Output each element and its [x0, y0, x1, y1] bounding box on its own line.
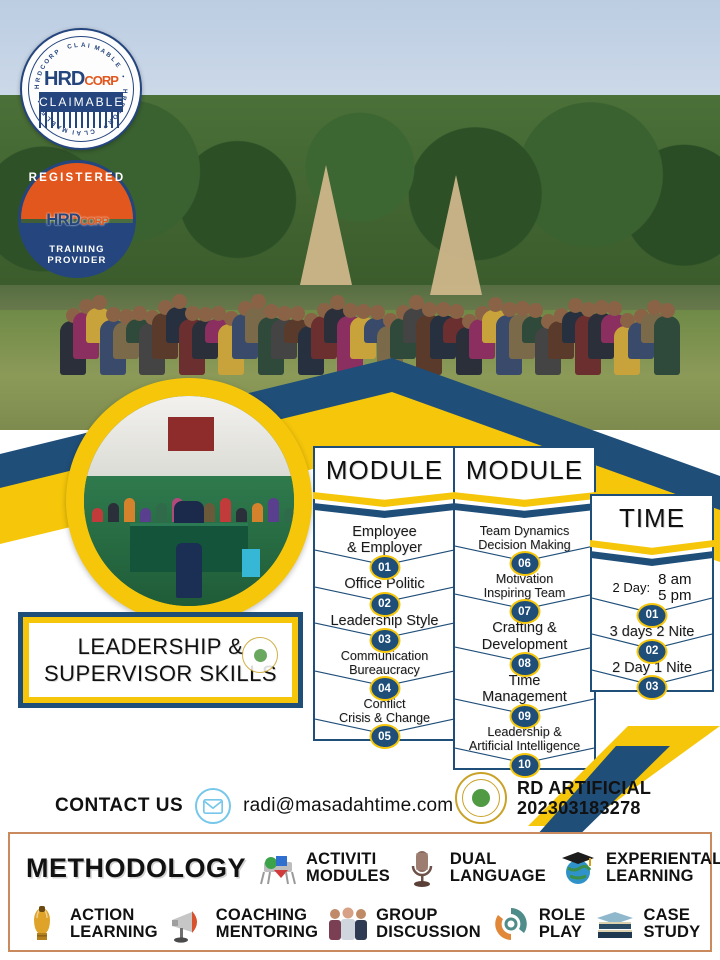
- hrd-corp-claimable-badge: HRDCORP CLAIMABLE • HRDCORP CLAIMABLE • …: [20, 28, 142, 150]
- program-title-inner: LEADERSHIP & SUPERVISOR SKILLS: [29, 623, 292, 697]
- company-row: RD ARTIFICIAL 202303183278: [455, 772, 651, 824]
- methodology-title: METHODOLOGY: [26, 853, 246, 884]
- hrd-corp-wordmark: HRDCORP: [25, 203, 129, 237]
- contact-label: CONTACT US: [55, 795, 183, 817]
- methodology-item-label: CASESTUDY: [643, 907, 700, 942]
- module-item[interactable]: Team DynamicsDecision Making06: [455, 518, 594, 566]
- step-number-badge: 01: [637, 603, 668, 628]
- contact-row: CONTACT US radi@masadahtime.com: [55, 788, 453, 824]
- step-number-badge: 08: [509, 652, 540, 677]
- time-item-value: 8 am5 pm: [658, 572, 691, 604]
- module-item-text: TimeManagement: [459, 673, 590, 705]
- methodology-item-label: COACHINGMENTORING: [216, 907, 318, 942]
- column-heading: MODULE: [455, 448, 594, 492]
- methodology-panel: METHODOLOGY ACTIVITIMODULESDUALLANGUAGEE…: [8, 832, 712, 952]
- poster: HRDCORP CLAIMABLE • HRDCORP CLAIMABLE • …: [0, 0, 720, 960]
- methodology-item[interactable]: CASESTUDY: [593, 902, 700, 946]
- training-provider-label: TRAINING PROVIDER: [21, 244, 133, 266]
- step-number-badge: 04: [369, 676, 400, 701]
- methodology-item-label: ROLEPLAY: [539, 907, 586, 942]
- oval-photo-frame: [66, 378, 312, 624]
- company-registration: 202303183278: [517, 798, 641, 818]
- step-number-badge: 03: [369, 628, 400, 653]
- methodology-item[interactable]: GROUPDISCUSSION: [326, 902, 481, 946]
- module-item-text: CommunicationBureaucracy: [319, 649, 450, 677]
- books-icon: [593, 902, 637, 946]
- module-item-text: Leadership &Artificial Intelligence: [459, 725, 590, 753]
- chevron-divider: [315, 492, 454, 518]
- tree-icon: [472, 789, 490, 807]
- claimable-label: CLAIMABLE: [39, 92, 123, 112]
- module-item[interactable]: Employee& Employer01: [315, 518, 454, 570]
- step-number-badge: 06: [509, 551, 540, 576]
- hrd-wordmark: HRDCORP: [22, 68, 140, 91]
- time-column: TIME 2 Day:8 am5 pm013 days 2 Nite022 Da…: [590, 494, 714, 692]
- methodology-row-1: METHODOLOGY ACTIVITIMODULESDUALLANGUAGEE…: [10, 840, 710, 896]
- step-number-badge: 01: [369, 555, 400, 580]
- registered-training-provider-badge: REGISTERED HRDCORP TRAINING PROVIDER: [18, 160, 136, 278]
- step-number-badge: 07: [509, 599, 540, 624]
- step-number-badge: 09: [509, 704, 540, 729]
- title-line-1: LEADERSHIP &: [78, 634, 244, 659]
- step-number-badge: 03: [637, 675, 668, 700]
- badge-stripes: [39, 112, 123, 128]
- methodology-item-label: EXPERIENTALLEARNING: [606, 851, 720, 886]
- program-title-banner: LEADERSHIP & SUPERVISOR SKILLS: [18, 612, 303, 708]
- group-participants: [60, 235, 680, 375]
- rd-artificial-seal-small: [242, 637, 278, 673]
- company-name-block: RD ARTIFICIAL 202303183278: [517, 778, 651, 818]
- people-group-icon: [326, 902, 370, 946]
- hall-chair: [176, 543, 201, 598]
- envelope-icon: [195, 788, 231, 824]
- rd-artificial-seal: [455, 772, 507, 824]
- step-number-badge: 10: [509, 753, 540, 778]
- methodology-item[interactable]: DUALLANGUAGE: [400, 846, 546, 890]
- step-number-badge: 02: [369, 592, 400, 617]
- module-item-list: Employee& Employer01Office Politic02Lead…: [315, 518, 454, 739]
- methodology-row-2: ACTIONLEARNINGCOACHINGMENTORINGGROUPDISC…: [10, 898, 710, 950]
- step-number-badge: 02: [637, 639, 668, 664]
- methodology-item-label: GROUPDISCUSSION: [376, 907, 481, 942]
- microphone-icon: [400, 846, 444, 890]
- title-line-2: SUPERVISOR SKILLS: [44, 661, 277, 686]
- module-item-text: Crafting &Development: [459, 620, 590, 652]
- chevron-divider: [592, 540, 712, 566]
- chevron-divider: [455, 492, 594, 518]
- training-hall-photo: [84, 396, 294, 606]
- company-name: RD ARTIFICIAL: [517, 778, 651, 798]
- methodology-item-label: DUALLANGUAGE: [450, 851, 546, 886]
- graduation-globe-icon: [556, 846, 600, 890]
- time-item[interactable]: 2 Day:8 am5 pm01: [592, 566, 712, 618]
- arrows-cycle-icon: [489, 902, 533, 946]
- time-item-label: 2 Day:: [613, 580, 651, 595]
- hall-screen: [168, 417, 214, 451]
- contact-email[interactable]: radi@masadahtime.com: [243, 795, 453, 817]
- methodology-item[interactable]: EXPERIENTALLEARNING: [556, 846, 720, 890]
- methodology-item-label: ACTIONLEARNING: [70, 907, 158, 942]
- megaphone-icon: [166, 902, 210, 946]
- module-item-text: Team DynamicsDecision Making: [459, 524, 590, 552]
- column-heading: MODULE: [315, 448, 454, 492]
- methodology-item[interactable]: ACTIVITIMODULES: [256, 846, 390, 890]
- methodology-item-label: ACTIVITIMODULES: [306, 851, 390, 886]
- methodology-item[interactable]: ROLEPLAY: [489, 902, 586, 946]
- corp-wordmark: CORP: [84, 73, 118, 88]
- module-item-text: ConflictCrisis & Change: [319, 697, 450, 725]
- module-item-list: Team DynamicsDecision Making06Motivation…: [455, 518, 594, 768]
- registered-label: REGISTERED: [21, 172, 133, 184]
- hall-bag: [242, 549, 261, 576]
- methodology-item[interactable]: ACTIONLEARNING: [20, 902, 158, 946]
- activity-module-icon: [256, 846, 300, 890]
- module-column-2: MODULE Team DynamicsDecision Making06Mot…: [453, 446, 596, 770]
- module-column-1: MODULE Employee& Employer01Office Politi…: [313, 446, 456, 741]
- column-heading: TIME: [592, 496, 712, 540]
- module-item-text: MotivationInspiring Team: [459, 572, 590, 600]
- time-item-list: 2 Day:8 am5 pm013 days 2 Nite022 Day 1 N…: [592, 566, 712, 690]
- lightbulb-icon: [20, 902, 64, 946]
- step-number-badge: 05: [369, 724, 400, 749]
- module-item-text: Employee& Employer: [319, 524, 450, 556]
- methodology-item[interactable]: COACHINGMENTORING: [166, 902, 318, 946]
